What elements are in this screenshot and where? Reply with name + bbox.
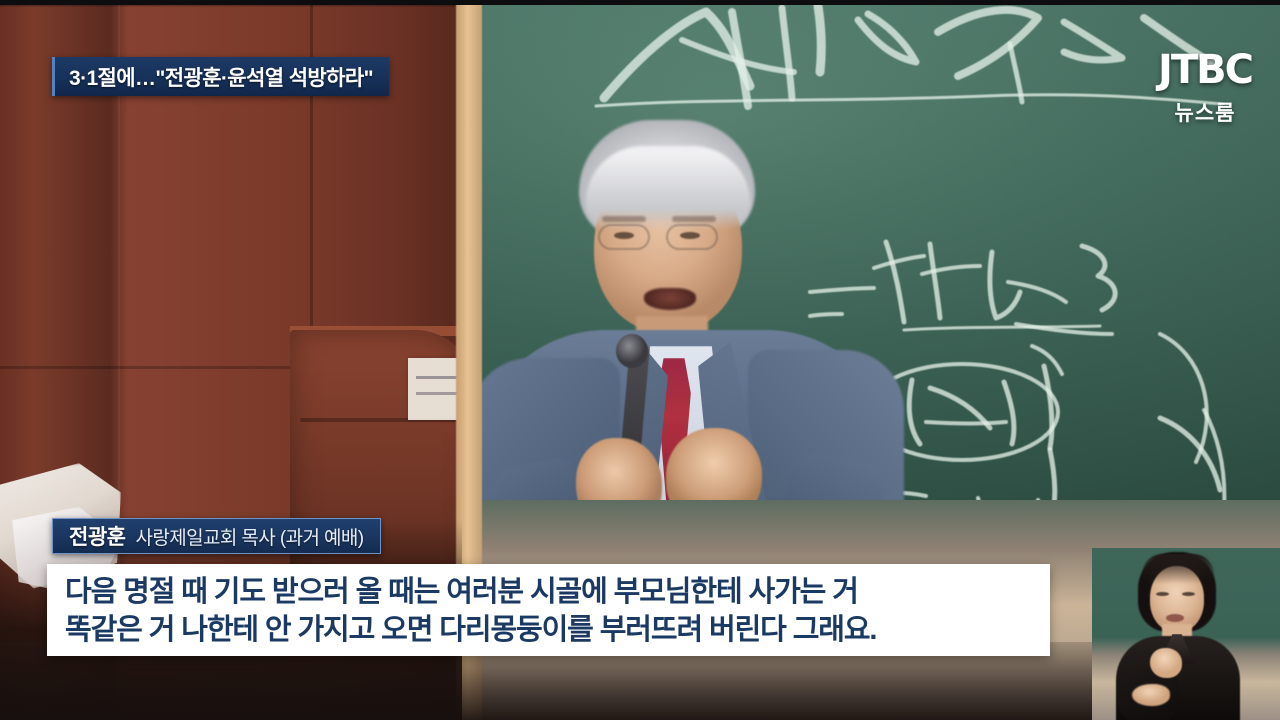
interpreter-eye-left <box>1156 592 1169 596</box>
lower-third-nameplate: 전광훈 사랑제일교회 목사 (과거 예배) <box>52 518 381 554</box>
broadcast-screen: 3·1절에…"전광훈·윤석열 석방하라" JTBC 뉴스룸 전광훈 사랑제일교회… <box>0 0 1280 720</box>
speaker-figure <box>476 120 896 560</box>
program-name-label: 뉴스룸 <box>1158 97 1252 127</box>
interpreter-hand-upper <box>1150 648 1182 678</box>
speaker-brow-left <box>602 216 646 222</box>
speaker-role-label: 사랑제일교회 목사 (과거 예배) <box>135 523 363 550</box>
caption-line-2: 똑같은 거 나한테 안 가지고 오면 다리몽둥이를 부러뜨려 버린다 그래요. <box>65 611 1036 649</box>
wall-horizontal-seam <box>0 366 330 369</box>
channel-logo: JTBC 뉴스룸 <box>1158 50 1252 127</box>
interpreter-hand-lower <box>1132 684 1170 706</box>
speaker-mouth <box>644 288 696 310</box>
caption-box: 다음 명절 때 기도 받으러 올 때는 여러분 시골에 부모님한테 사가는 거 … <box>47 564 1050 656</box>
speaker-name-label: 전광훈 <box>69 521 125 551</box>
headline-banner: 3·1절에…"전광훈·윤석열 석방하라" <box>52 57 389 96</box>
speaker-eye-right <box>680 232 700 239</box>
letterbox-bar-top <box>0 0 1280 5</box>
speaker-brow-right <box>672 216 716 222</box>
interpreter-eye-right <box>1182 592 1195 596</box>
microphone-head <box>616 334 648 368</box>
interpreter-mouth <box>1166 614 1184 622</box>
speaker-eye-left <box>614 232 634 239</box>
headline-text: 3·1절에…"전광훈·윤석열 석방하라" <box>69 62 373 92</box>
interpreter-hair-front <box>1142 554 1214 584</box>
caption-line-1: 다음 명절 때 기도 받으러 올 때는 여러분 시골에 부모님한테 사가는 거 <box>65 573 1036 611</box>
jtbc-logo-mark: JTBC <box>1158 50 1252 90</box>
sign-language-interpreter <box>1092 548 1280 720</box>
